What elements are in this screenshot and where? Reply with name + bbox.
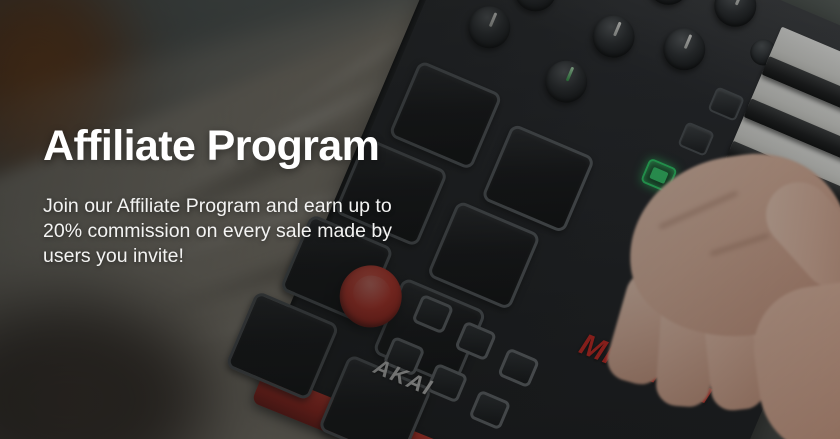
banner-copy: Affiliate Program Join our Affiliate Pro… [43,120,463,269]
page-title: Affiliate Program [43,120,463,172]
affiliate-program-banner: MPK mini AKAI [0,0,840,439]
banner-description: Join our Affiliate Program and earn up t… [43,194,415,269]
